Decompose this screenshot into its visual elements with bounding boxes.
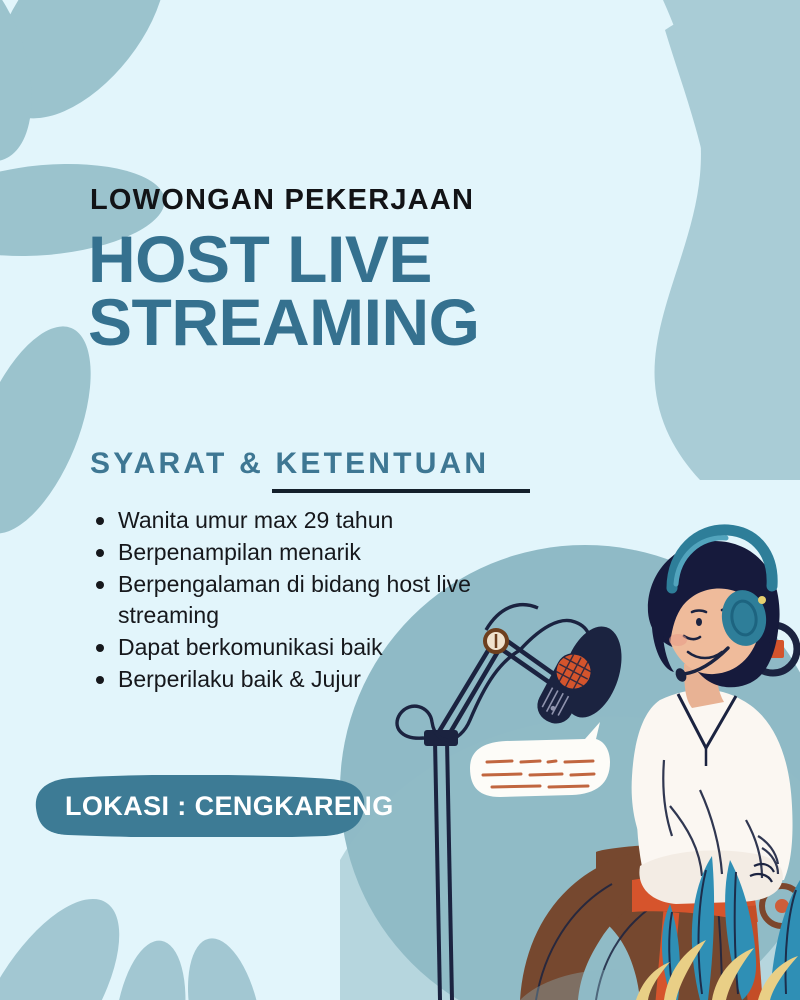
poster-canvas: LOWONGAN PEKERJAAN HOST LIVE STREAMING S…: [0, 0, 800, 1000]
requirements-list: Wanita umur max 29 tahun Berpenampilan m…: [92, 505, 512, 696]
requirements-heading: SYARAT & KETENTUAN: [90, 447, 489, 481]
page-title: HOST LIVE STREAMING: [88, 228, 480, 353]
location-badge: LOKASI : CENGKARENG: [30, 775, 366, 837]
list-item: Berpenampilan menarik: [92, 537, 512, 568]
list-item: Berperilaku baik & Jujur: [92, 664, 512, 695]
text-layer: LOWONGAN PEKERJAAN HOST LIVE STREAMING S…: [0, 0, 800, 1000]
heading-underline: [272, 489, 530, 493]
eyebrow-label: LOWONGAN PEKERJAAN: [90, 184, 474, 217]
location-text: LOKASI : CENGKARENG: [65, 791, 394, 822]
list-item: Berpengalaman di bidang host live stream…: [92, 569, 512, 631]
list-item: Wanita umur max 29 tahun: [92, 505, 512, 536]
list-item: Dapat berkomunikasi baik: [92, 632, 512, 663]
